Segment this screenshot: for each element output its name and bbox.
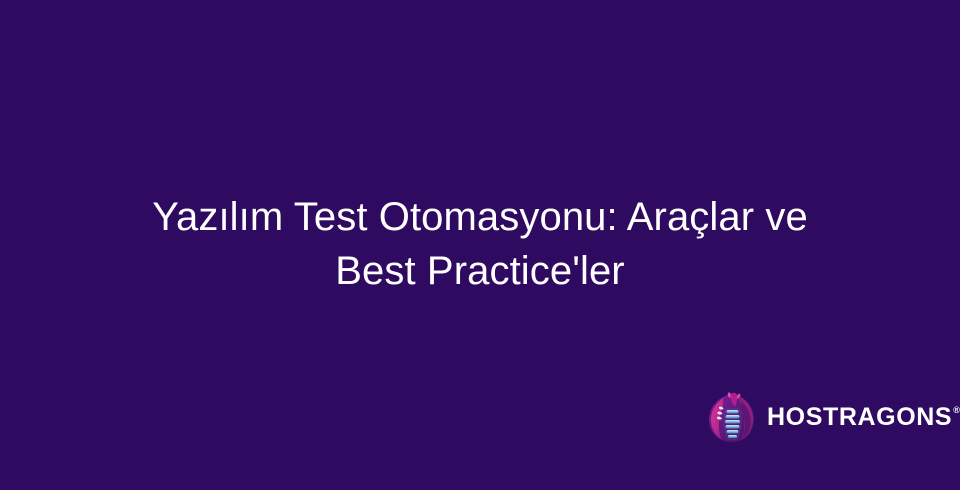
brand-name: HOSTRAGONS: [767, 405, 952, 430]
brand-logo-lockup: HOSTRAGONS ®: [708, 391, 914, 443]
dragon-icon: [708, 392, 756, 442]
page-title: Yazılım Test Otomasyonu: Araçlar ve Best…: [112, 191, 848, 298]
brand-wordmark: HOSTRAGONS ®: [767, 405, 960, 430]
registered-trademark-symbol: ®: [953, 406, 960, 415]
banner-canvas: Yazılım Test Otomasyonu: Araçlar ve Best…: [0, 0, 960, 490]
